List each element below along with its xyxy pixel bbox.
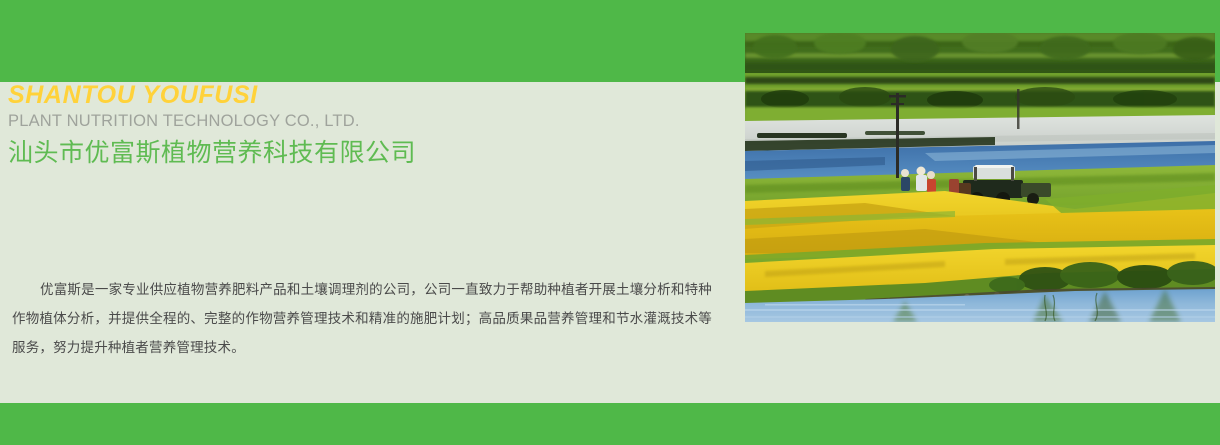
brand-name-cn: 汕头市优富斯植物营养科技有限公司: [8, 137, 728, 170]
brand-tagline-en: PLANT NUTRITION TECHNOLOGY CO., LTD.: [8, 110, 728, 132]
hero-photo: [745, 33, 1215, 322]
brand-name-en: SHANTOU YOUFUSI: [8, 82, 728, 108]
rice-paddy-harvest-photo: [745, 33, 1215, 322]
page-root: SHANTOU YOUFUSI PLANT NUTRITION TECHNOLO…: [0, 0, 1220, 445]
bottom-green-band: [0, 403, 1220, 445]
brand-block: SHANTOU YOUFUSI PLANT NUTRITION TECHNOLO…: [8, 82, 728, 169]
company-intro-paragraph: 优富斯是一家专业供应植物营养肥料产品和土壤调理剂的公司，公司一直致力于帮助种植者…: [12, 275, 712, 362]
